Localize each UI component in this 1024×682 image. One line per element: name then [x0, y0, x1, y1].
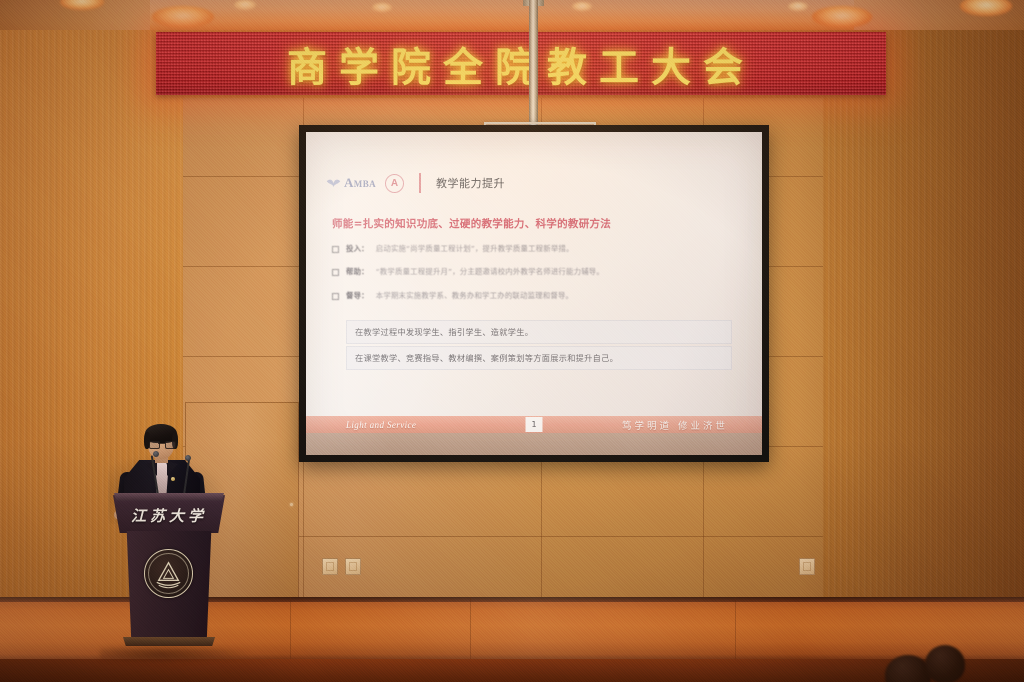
microphone-capsule[interactable]: [153, 451, 159, 457]
banner-title-text: 商学院全院教工大会: [156, 32, 886, 95]
bullet-text: 本学期末实施教学系、教务办和学工办的联动监理和督导。: [376, 291, 573, 300]
slide-bullet-item: 投入： 启动实施“尚学质量工程计划”，提升教学质量工程新举措。: [332, 244, 746, 253]
glasses-bridge: [158, 443, 165, 444]
lectern-base: [121, 637, 217, 646]
lectern-reading-lip: [114, 493, 224, 501]
bullet-square-icon: [332, 269, 339, 276]
bullet-text: “教学质量工程提升月”，分主题邀请校内外教学名师进行能力辅导。: [376, 267, 604, 276]
audience-head: [925, 645, 965, 682]
glasses-lens-right: [165, 441, 176, 449]
speaker-lapel-pin: [171, 477, 175, 481]
slide-title: 教学能力提升: [436, 175, 505, 191]
slide-bullet-item: 督导： 本学期末实施教学系、教务办和学工办的联动监理和督导。: [332, 291, 746, 300]
footer-motto-en: Light and Service: [346, 420, 416, 430]
slide-lead-line: 师能=扎实的知识功底、过硬的教学能力、科学的教研方法: [332, 216, 744, 231]
bullet-key: 投入：: [346, 244, 369, 253]
projection-screen-frame: AMBA A 教学能力提升 师能=扎实的知识功底、过硬的教学能力、科学的教研方法…: [299, 125, 769, 462]
auditorium-photo-scene: 商学院全院教工大会 AMBA: [0, 0, 1024, 682]
amba-letters-mba: MBA: [354, 179, 376, 189]
wall-socket-plate[interactable]: [345, 558, 361, 575]
slide-highlight-box: 在课堂教学、竞赛指导、教材编撰、案例策划等方面展示和提升自己。: [346, 346, 732, 370]
stage-floor-seam: [735, 597, 736, 659]
ceiling-downlight: [372, 3, 392, 12]
ceiling-downlight: [812, 6, 872, 28]
ceiling: [0, 0, 1024, 34]
slide-highlight-box: 在教学过程中发现学生、指引学生、造就学生。: [346, 320, 732, 344]
footer-motto-zh: 笃学明道 修业济世: [622, 418, 728, 432]
microphone-capsule[interactable]: [185, 455, 191, 461]
amba-wordmark: AMBA: [344, 175, 376, 191]
bullet-key: 帮助：: [346, 267, 369, 276]
stage-floor-seam: [290, 597, 291, 659]
slide-bullet-item: 帮助： “教学质量工程提升月”，分主题邀请校内外教学名师进行能力辅导。: [332, 267, 746, 276]
emblem-sail-glyph: [145, 550, 192, 597]
amba-logo: AMBA: [326, 175, 376, 191]
amba-accreditation-badge: A: [385, 174, 404, 193]
bullet-key: 督导：: [346, 291, 369, 300]
led-banner: 商学院全院教工大会: [156, 32, 886, 95]
amba-letter-a: A: [344, 175, 354, 190]
lectern-calligraphy: 江苏大学: [119, 505, 219, 526]
wall-socket-plate[interactable]: [799, 558, 815, 575]
ceiling-downlight: [234, 0, 256, 10]
speaker-glasses: [149, 441, 174, 447]
wall-socket-plate[interactable]: [322, 558, 338, 575]
ceiling-downlight: [788, 2, 808, 11]
amba-swoosh-icon: [326, 178, 341, 189]
bullet-square-icon: [332, 293, 339, 300]
header-divider: [419, 173, 421, 193]
slide-bullet-list: 投入： 启动实施“尚学质量工程计划”，提升教学质量工程新举措。 帮助： “教学质…: [332, 244, 746, 314]
university-emblem: [144, 549, 193, 598]
bullet-square-icon: [332, 246, 339, 253]
slide-footer: Light and Service 1 笃学明道 修业济世: [306, 416, 762, 433]
ceiling-downlight: [572, 2, 592, 11]
slide-bottom-band: [306, 433, 762, 455]
presentation-slide: AMBA A 教学能力提升 师能=扎实的知识功底、过硬的教学能力、科学的教研方法…: [306, 132, 762, 455]
stage-floor-seam: [470, 597, 471, 659]
bullet-text: 启动实施“尚学质量工程计划”，提升教学质量工程新举措。: [376, 244, 574, 253]
projector-mount-pole: [529, 0, 538, 126]
ceiling-downlight: [152, 6, 214, 28]
slide-header: AMBA A 教学能力提升: [326, 170, 744, 196]
slide-page-number: 1: [526, 417, 543, 432]
lectern: 江苏大学: [113, 489, 225, 657]
projection-screen-surface: AMBA A 教学能力提升 师能=扎实的知识功底、过硬的教学能力、科学的教研方法…: [306, 132, 762, 455]
